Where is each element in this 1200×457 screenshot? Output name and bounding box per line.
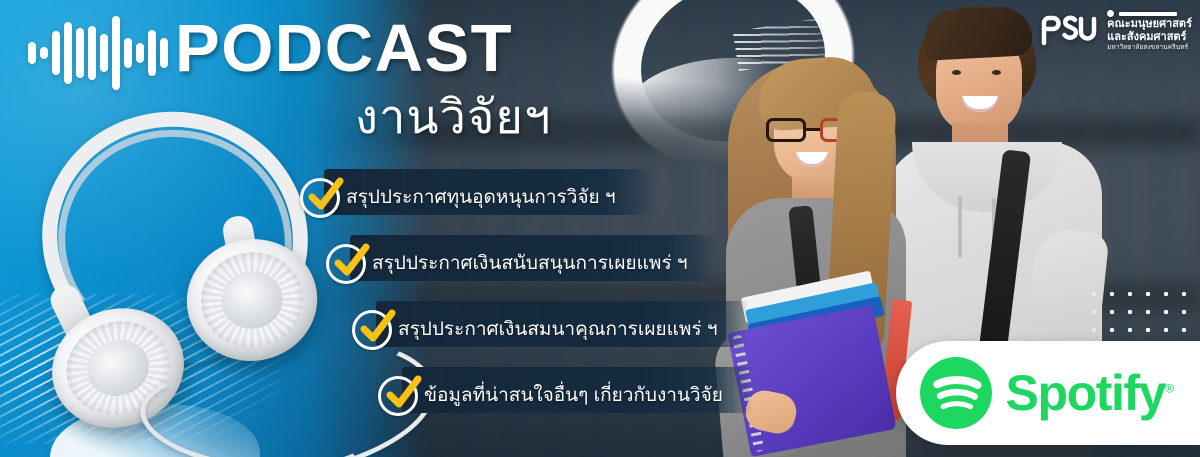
registered-mark: ®	[1165, 381, 1174, 395]
psu-rule	[1119, 12, 1177, 16]
psu-line-3: มหาวิทยาลัยสงขลานครินทร์	[1107, 44, 1192, 52]
glasses-bridge	[806, 128, 820, 131]
feature-list-label: สรุปประกาศเงินสมนาคุณการเผยแพร่ ฯ	[398, 319, 718, 342]
check-circle-icon	[352, 310, 392, 350]
feature-list: สรุปประกาศทุนอุดหนุนการวิจัย ฯสรุปประกาศ…	[300, 165, 820, 429]
spotify-badge[interactable]: Spotify®	[896, 341, 1200, 445]
boy-eye-right	[992, 70, 1001, 75]
psu-wordmark-icon	[1038, 13, 1100, 47]
check-circle-icon	[326, 244, 366, 284]
waveform-bar	[52, 31, 60, 75]
waveform-bar	[112, 16, 120, 90]
psu-faculty-name: คณะมนุษยศาสตร์ และสังคมศาสตร์ มหาวิทยาลั…	[1107, 18, 1192, 52]
glasses-lens-left	[766, 118, 806, 142]
waveform-bar	[76, 28, 84, 78]
feature-list-item: สรุปประกาศเงินสนับสนุนการเผยแพร่ ฯ	[326, 231, 820, 297]
waveform-bar	[28, 42, 36, 64]
feature-list-label: สรุปประกาศเงินสนับสนุนการเผยแพร่ ฯ	[372, 253, 688, 276]
page-title: PODCAST	[175, 15, 513, 82]
waveform-bar	[160, 38, 168, 68]
spotify-icon	[920, 357, 992, 429]
psu-logo: คณะมนุษยศาสตร์ และสังคมศาสตร์ มหาวิทยาลั…	[1038, 8, 1192, 52]
waveform-bar	[100, 34, 108, 72]
psu-divider	[1107, 8, 1192, 17]
waveform-bar	[148, 30, 156, 76]
feature-list-label: ข้อมูลที่น่าสนใจอื่นๆ เกี่ยวกับงานวิจัย	[424, 385, 723, 408]
check-circle-icon	[378, 376, 418, 416]
waveform-bar	[88, 26, 96, 80]
feature-list-item: สรุปประกาศทุนอุดหนุนการวิจัย ฯ	[300, 165, 820, 231]
audio-waveform-icon	[28, 14, 168, 92]
spotify-wordmark: Spotify®	[1006, 368, 1174, 418]
feature-list-item: ข้อมูลที่น่าสนใจอื่นๆ เกี่ยวกับงานวิจัย	[378, 363, 820, 429]
waveform-bar	[40, 47, 48, 59]
psu-line-1: คณะมนุษยศาสตร์	[1107, 18, 1192, 31]
psu-line-2: และสังคมศาสตร์	[1107, 31, 1192, 44]
psu-dot	[1107, 10, 1114, 17]
boy-eye-left	[952, 70, 961, 75]
hood-string-left	[958, 196, 962, 258]
feature-list-item: สรุปประกาศเงินสมนาคุณการเผยแพร่ ฯ	[352, 297, 820, 363]
feature-list-label: สรุปประกาศทุนอุดหนุนการวิจัย ฯ	[346, 187, 616, 210]
boy-fringe	[923, 5, 1033, 61]
waveform-bar	[136, 43, 144, 63]
waveform-bar	[64, 22, 72, 84]
page-subtitle: งานวิจัยฯ	[355, 90, 551, 144]
headphones-illustration	[10, 108, 340, 438]
check-circle-icon	[300, 178, 340, 218]
spotify-word-text: Spotify	[1006, 365, 1166, 421]
waveform-bar	[124, 38, 132, 68]
podcast-banner: PODCAST งานวิจัยฯ สรุปประกาศทุนอุดหนุนกา…	[0, 0, 1200, 457]
psu-text-block: คณะมนุษยศาสตร์ และสังคมศาสตร์ มหาวิทยาลั…	[1107, 8, 1192, 52]
